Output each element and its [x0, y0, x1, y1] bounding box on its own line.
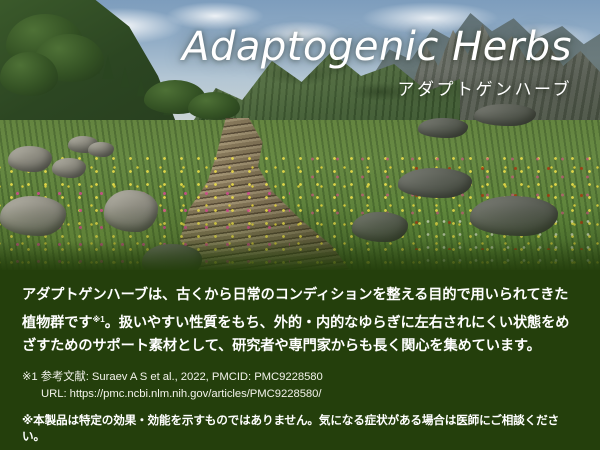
- boulder: [474, 104, 536, 126]
- boulder: [52, 158, 86, 178]
- page-title-japanese: アダプトゲンハーブ: [182, 75, 572, 100]
- photo-bottom-fade: [0, 205, 600, 270]
- boulder: [8, 146, 52, 172]
- footnote-marker: ※1: [92, 315, 104, 324]
- body-line-1: アダプトゲンハーブは、古くから日常のコンディションを整える目的で用いられてきた: [22, 287, 568, 303]
- boulder: [398, 168, 472, 198]
- hero-title-block: Adaptogenic Herbs アダプトゲンハーブ: [182, 26, 572, 100]
- conifer-tree: [120, 67, 130, 88]
- conifer-tree: [102, 55, 113, 79]
- boulder: [418, 118, 468, 138]
- promo-banner: Adaptogenic Herbs アダプトゲンハーブ アダプトゲンハーブは、古…: [0, 0, 600, 450]
- footnote-url[interactable]: URL: https://pmc.ncbi.nlm.nih.gov/articl…: [22, 386, 576, 403]
- body-line-2: 植物群です: [22, 315, 92, 331]
- footnote-reference: ※1 参考文献: Suraev A S et al., 2022, PMCID:…: [22, 371, 323, 383]
- info-panel: アダプトゲンハーブは、古くから日常のコンディションを整える目的で用いられてきた植…: [0, 270, 600, 450]
- footnote-block: ※1 参考文献: Suraev A S et al., 2022, PMCID:…: [22, 369, 576, 403]
- legal-disclaimer: ※本製品は特定の効果・効能を示すものではありません。気になる症状がある場合は医師…: [22, 413, 576, 445]
- page-title-english: Adaptogenic Herbs: [182, 26, 572, 69]
- shrub: [0, 52, 58, 96]
- body-line-3: 。扱いやすい性質をもち、外的・内的なゆらぎに左右されにくい状態を: [105, 315, 556, 331]
- boulder: [88, 142, 114, 157]
- body-description: アダプトゲンハーブは、古くから日常のコンディションを整える目的で用いられてきた植…: [22, 284, 576, 359]
- conifer-tree: [137, 78, 146, 97]
